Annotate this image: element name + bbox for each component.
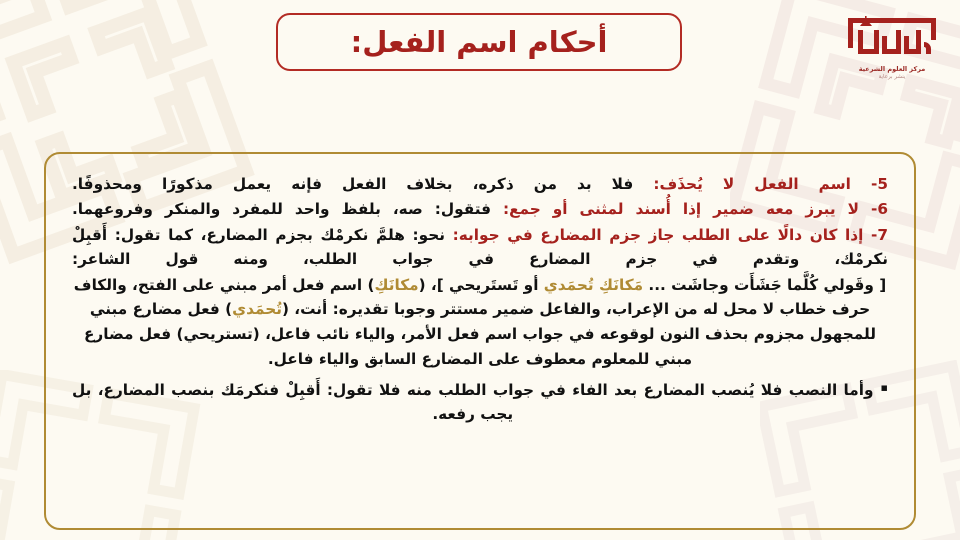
item-heading: اسم الفعل لا يُحذَف: [653,175,851,193]
item-number: 5- [871,175,888,193]
note-bullet-item: ▪ وأما النصب فلا يُنصب المضارع بعد الفاء… [72,378,888,428]
bullet-square-icon: ▪ [881,378,888,399]
note-text: وأما النصب فلا يُنصب المضارع بعد الفاء ف… [72,378,874,428]
list-item: 7- إذا كان دالًا على الطلب جاز جزم المضا… [72,223,888,273]
verse-close-bracket: ]، [431,276,444,294]
body-text: 5- اسم الفعل لا يُحذَف: فلا بد من ذكره، … [72,172,888,427]
content-frame: 5- اسم الفعل لا يُحذَف: فلا بد من ذكره، … [44,152,916,530]
analysis-highlight-tuhmadi: تُحمَدي [232,300,282,318]
poetry-verse: [ وقَولي كُلَّما جَشَأَت وجاشَت ... مَكا… [72,273,888,372]
item-number: 7- [871,226,888,244]
analysis-open-paren: ( [419,276,426,294]
page-title: أحكام اسم الفعل: [351,28,608,57]
ihkam-wordmark-icon [844,16,940,62]
logo-subtitle-primary: مركز العلوم الشرعية [859,65,926,73]
slide-title-box: أحكام اسم الفعل: [276,13,682,71]
logo-subtitle-secondary: ينشر برعاية [879,74,906,80]
verse-part-one: وقَولي كُلَّما جَشَأَت وجاشَت ... [648,276,873,294]
verse-part-two: أو تَستَريحي [449,276,538,294]
item-heading: إذا كان دالًا على الطلب جاز جزم المضارع … [453,226,864,244]
item-number: 6- [871,200,888,218]
item-text: فتقول: صه، بلفظ واحد للمفرد والمنكر وفرو… [72,200,491,218]
analysis-highlight-makanaki: مكانَكِ [374,276,418,294]
brand-logo: مركز العلوم الشرعية ينشر برعاية [840,16,944,98]
item-text: فلا بد من ذكره، بخلاف الفعل فإنه يعمل مذ… [72,175,633,193]
verse-open-bracket: [ [879,276,886,294]
slide-canvas: أحكام اسم الفعل: [0,0,960,540]
list-item: 5- اسم الفعل لا يُحذَف: فلا بد من ذكره، … [72,172,888,197]
verse-highlight-makanaki-tuhmadi: مَكانَكِ تُحمَدي [544,276,643,294]
list-item: 6- لا يبرز معه ضمير إذا أُسند لمثنى أو ج… [72,197,888,222]
item-heading: لا يبرز معه ضمير إذا أُسند لمثنى أو جمع: [503,200,859,218]
